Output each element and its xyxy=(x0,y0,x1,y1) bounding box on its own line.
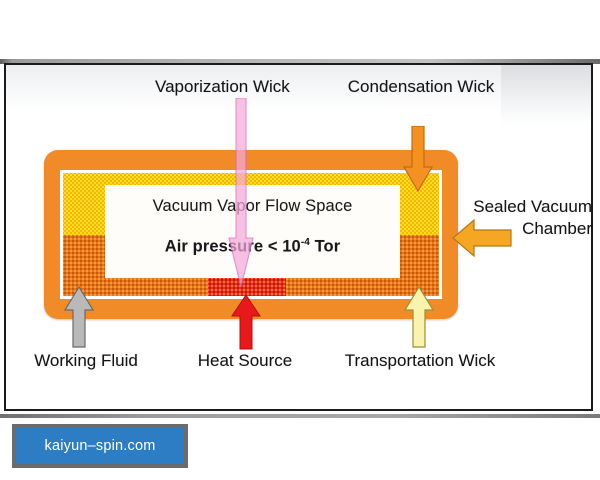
transportation-arrow-icon xyxy=(404,286,434,348)
figure-top-gradient xyxy=(6,65,591,111)
page-canvas: Vacuum Vapor Flow Space Air pressure < 1… xyxy=(0,0,600,480)
air-pressure-exponent: -4 xyxy=(301,237,310,248)
air-pressure-suffix: Tor xyxy=(310,238,340,256)
figure-top-right-gradient xyxy=(501,65,591,125)
label-heat-source: Heat Source xyxy=(180,350,310,372)
vaporization-arrow-icon xyxy=(228,98,254,288)
label-working-fluid: Working Fluid xyxy=(30,350,142,372)
heat-source-arrow-icon xyxy=(231,294,261,350)
condensation-arrow-icon xyxy=(403,126,433,192)
label-transportation-wick: Transportation Wick xyxy=(340,350,500,372)
working-fluid-arrow-icon xyxy=(64,286,94,348)
watermark-badge: kaiyun–spin.com xyxy=(12,424,188,468)
bottom-divider-bar xyxy=(0,414,600,418)
label-condensation-wick: Condensation Wick xyxy=(346,76,496,98)
sealed-chamber-arrow-icon xyxy=(452,218,512,258)
label-vaporization-wick: Vaporization Wick xyxy=(155,76,290,98)
watermark-text: kaiyun–spin.com xyxy=(16,428,184,464)
